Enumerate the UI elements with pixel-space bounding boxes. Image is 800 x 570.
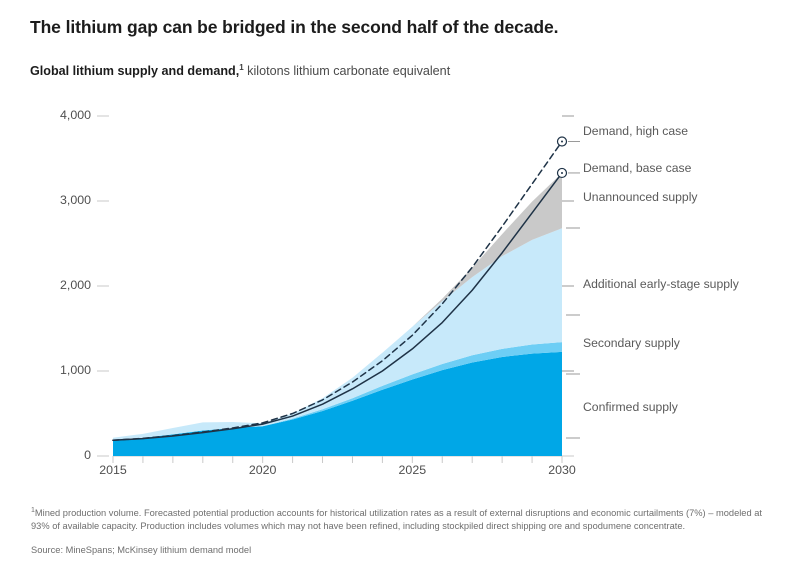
y-tick-label: 3,000 [31, 193, 91, 207]
x-tick-label: 2030 [532, 463, 592, 477]
area-chart: 0 1,000 2,000 3,000 4,000 2015 2020 2025… [0, 0, 800, 500]
series-label-confirmed-supply: Confirmed supply [583, 400, 678, 414]
series-label-demand-high: Demand, high case [583, 124, 688, 138]
endpoint-dot [561, 141, 563, 143]
x-tick-label: 2015 [83, 463, 143, 477]
series-label-additional-early-stage-supply: Additional early-stage supply [583, 277, 739, 291]
endpoint-dot [561, 172, 563, 174]
series-label-demand-base: Demand, base case [583, 161, 691, 175]
series-label-secondary-supply: Secondary supply [583, 336, 680, 350]
chart-page: The lithium gap can be bridged in the se… [0, 0, 800, 570]
y-tick-label: 1,000 [31, 363, 91, 377]
x-tick-label: 2020 [233, 463, 293, 477]
y-tick-label: 4,000 [31, 108, 91, 122]
x-tick-label: 2025 [382, 463, 442, 477]
series-label-unannounced-supply: Unannounced supply [583, 190, 698, 204]
y-tick-label: 2,000 [31, 278, 91, 292]
chart-svg [0, 0, 800, 500]
source-text: Source: MineSpans; McKinsey lithium dema… [31, 544, 766, 556]
footnote-text: 1Mined production volume. Forecasted pot… [31, 505, 766, 532]
y-tick-label: 0 [31, 448, 91, 462]
footnote-body: Mined production volume. Forecasted pote… [31, 508, 762, 530]
